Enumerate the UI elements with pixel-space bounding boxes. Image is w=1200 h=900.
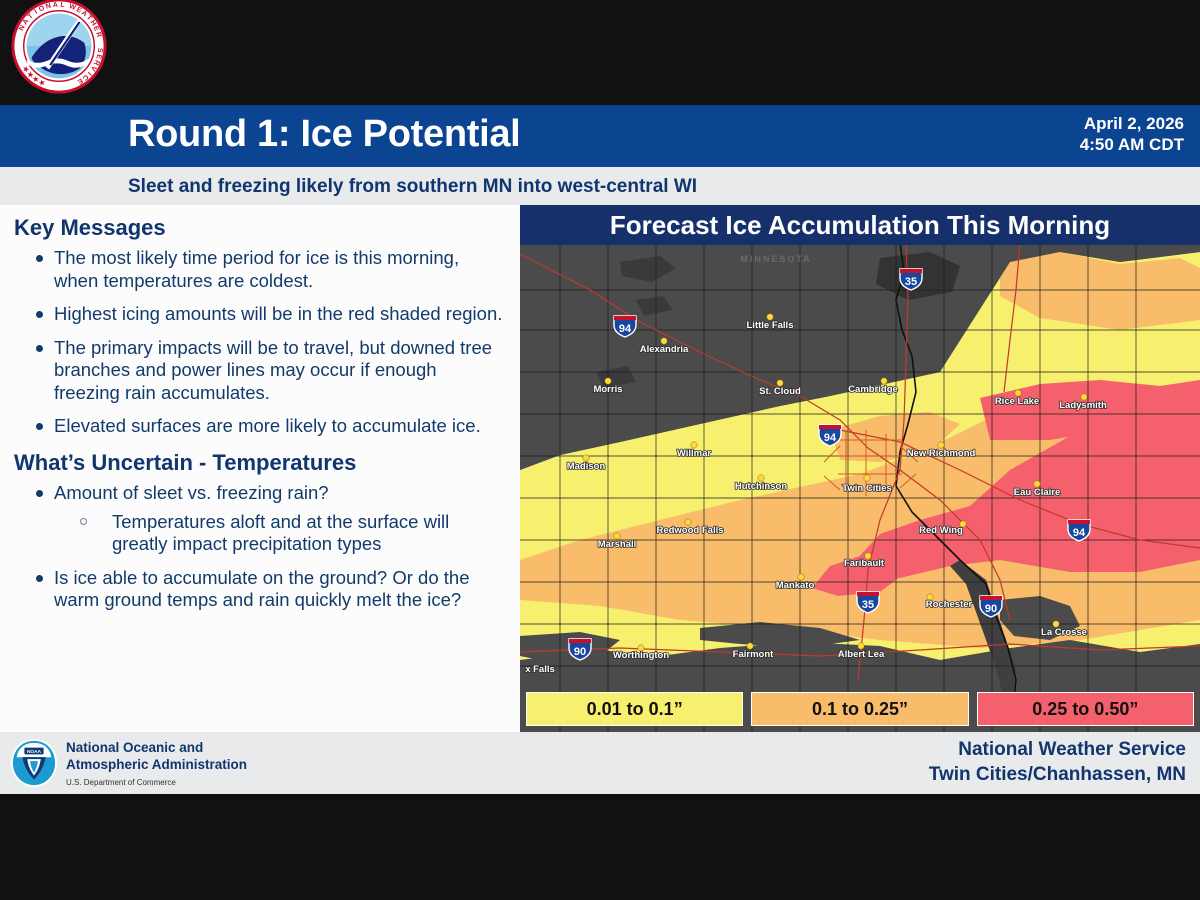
noaa-wordmark: National Oceanic and Atmospheric Adminis… xyxy=(66,740,247,787)
city-label: Albert Lea xyxy=(838,649,885,660)
list-item: Highest icing amounts will be in the red… xyxy=(34,303,506,326)
map-canvas[interactable]: MINNESOTA xyxy=(520,243,1200,732)
svg-text:94: 94 xyxy=(824,432,837,444)
city-label: Twin Cities xyxy=(842,483,891,494)
page-title: Round 1: Ice Potential xyxy=(128,113,520,156)
city-label: Red Wing xyxy=(919,525,963,536)
city-label: Madison xyxy=(567,461,606,472)
city-label: Morris xyxy=(593,384,622,395)
city-label: Rice Lake xyxy=(995,396,1039,407)
list-item: The most likely time period for ice is t… xyxy=(34,247,506,292)
office-line-1: National Weather Service xyxy=(929,738,1186,763)
svg-text:35: 35 xyxy=(862,599,874,611)
header-date: April 2, 2026 xyxy=(1080,113,1184,134)
city-label: Faribault xyxy=(844,558,885,569)
header-datetime: April 2, 2026 4:50 AM CDT xyxy=(1080,113,1184,156)
ice-accumulation-map[interactable]: MINNESOTA xyxy=(520,243,1200,732)
legend-swatch-low[interactable]: 0.01 to 0.1” xyxy=(526,692,743,726)
city-label: Willmar xyxy=(677,448,712,459)
map-title: Forecast Ice Accumulation This Morning xyxy=(520,205,1200,245)
city-label: St. Cloud xyxy=(759,386,801,397)
city-label: La Crosse xyxy=(1041,627,1087,638)
city-label: Hutchinson xyxy=(735,481,787,492)
city-label: Ladysmith xyxy=(1059,400,1107,411)
office-credit: National Weather Service Twin Cities/Cha… xyxy=(929,738,1186,787)
list-item: The primary impacts will be to travel, b… xyxy=(34,337,506,405)
city-label: Fairmont xyxy=(733,649,774,660)
city-label: New Richmond xyxy=(907,448,976,459)
city-label: Redwood Falls xyxy=(656,525,723,536)
city-label: Worthington xyxy=(613,650,669,661)
map-panel: Forecast Ice Accumulation This Morning xyxy=(520,205,1200,732)
city-label: Mankato xyxy=(776,580,815,591)
city-label: Rochester xyxy=(926,599,973,610)
svg-text:NOAA: NOAA xyxy=(27,749,42,755)
slide-root: N A T I O N A L W E A T H E R S E R V I … xyxy=(0,0,1200,900)
noaa-line-2: Atmospheric Administration xyxy=(66,757,247,774)
noaa-line-1: National Oceanic and xyxy=(66,740,247,757)
svg-text:A: A xyxy=(53,2,59,9)
subtitle-text: Sleet and freezing likely from southern … xyxy=(128,176,697,198)
uncertain-sublist: Temperatures aloft and at the surface wi… xyxy=(54,511,506,556)
nws-seal-icon: N A T I O N A L W E A T H E R S E R V I … xyxy=(10,0,108,95)
header-time: 4:50 AM CDT xyxy=(1080,134,1184,155)
legend-swatch-high[interactable]: 0.25 to 0.50” xyxy=(977,692,1194,726)
svg-text:90: 90 xyxy=(985,603,997,615)
office-line-2: Twin Cities/Chanhassen, MN xyxy=(929,763,1186,788)
list-item: Is ice able to accumulate on the ground?… xyxy=(34,567,506,612)
sub-list-item: Temperatures aloft and at the surface wi… xyxy=(98,511,506,556)
city-label: Little Falls xyxy=(747,320,794,331)
svg-text:90: 90 xyxy=(574,646,586,658)
svg-text:94: 94 xyxy=(619,323,632,335)
list-item-text: Amount of sleet vs. freezing rain? xyxy=(54,482,329,503)
city-label: Marshall xyxy=(598,539,637,550)
key-messages-panel: Key Messages The most likely time period… xyxy=(0,205,520,732)
key-messages-heading: Key Messages xyxy=(14,215,520,241)
list-item: Amount of sleet vs. freezing rain? Tempe… xyxy=(34,482,506,556)
state-label: MINNESOTA xyxy=(740,254,811,264)
uncertain-list: Amount of sleet vs. freezing rain? Tempe… xyxy=(0,482,520,612)
svg-text:94: 94 xyxy=(1073,527,1086,539)
svg-text:35: 35 xyxy=(905,276,917,288)
noaa-subline: U.S. Department of Commerce xyxy=(66,778,247,787)
key-messages-list: The most likely time period for ice is t… xyxy=(0,247,520,438)
noaa-seal-icon: NOAA xyxy=(10,738,58,788)
city-label: Cambridge xyxy=(848,384,898,395)
uncertain-heading: What’s Uncertain - Temperatures xyxy=(14,450,520,476)
legend-swatch-mid[interactable]: 0.1 to 0.25” xyxy=(751,692,968,726)
list-item: Elevated surfaces are more likely to acc… xyxy=(34,415,506,438)
map-legend: 0.01 to 0.1” 0.1 to 0.25” 0.25 to 0.50” xyxy=(520,692,1200,732)
city-label: Eau Claire xyxy=(1014,487,1060,498)
city-label: x Falls xyxy=(525,664,555,675)
city-label: Alexandria xyxy=(640,344,689,355)
